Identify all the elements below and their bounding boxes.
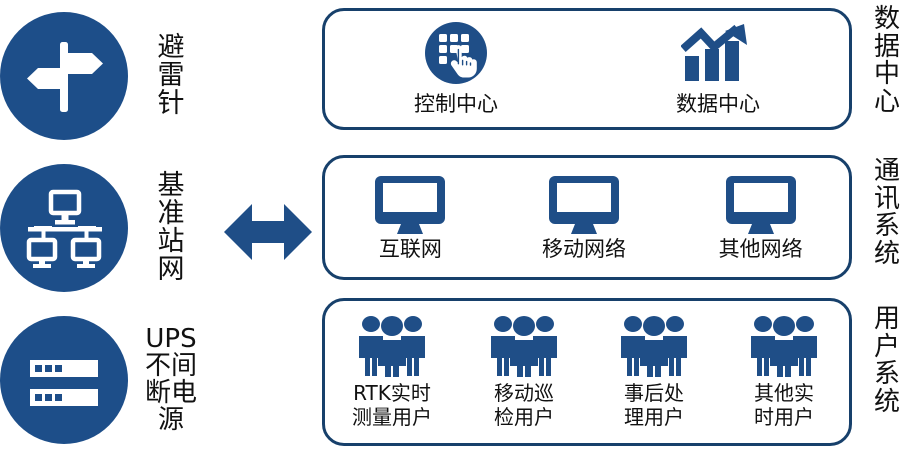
- label-line: 统: [862, 241, 912, 269]
- signpost-icon: [0, 12, 128, 140]
- network-of-computers-icon: [0, 164, 128, 292]
- label-line: 数: [862, 6, 912, 34]
- cell-caption: 控制中心: [414, 93, 498, 117]
- cell-other-network: 其他网络: [719, 173, 803, 262]
- cell-caption: 其他实 时用户: [754, 381, 814, 429]
- cell-caption: RTK实时 测量用户: [352, 381, 432, 429]
- cell-control-center: 控制中心: [414, 21, 498, 117]
- label-line: 网: [140, 256, 202, 284]
- label-line: 站: [140, 228, 202, 256]
- label-line: UPS: [140, 326, 202, 353]
- user-group-icon: [354, 315, 430, 377]
- label-line: 不间: [140, 353, 202, 380]
- label-line: 系: [862, 361, 912, 389]
- user-group-icon: [486, 315, 562, 377]
- section-label-data-center: 数 据 中 心: [862, 6, 912, 116]
- monitor-icon: [545, 173, 623, 235]
- cell-caption: 互联网: [379, 238, 442, 262]
- infrastructure-item-ups: UPS 不间 断电 源: [0, 308, 215, 452]
- monitor-icon: [722, 173, 800, 235]
- data-center-box: 控制中心 数据中心: [322, 8, 852, 130]
- double-headed-arrow-icon: [222, 196, 314, 268]
- cell-caption: 数据中心: [676, 93, 760, 117]
- cell-post-processing-users: 事后处 理用户: [616, 315, 692, 429]
- label-line: 讯: [862, 186, 912, 214]
- user-system-box: RTK实时 测量用户 移动巡 检用户: [322, 298, 852, 446]
- label-line: 用: [862, 306, 912, 334]
- cell-rtk-realtime-survey-users: RTK实时 测量用户: [352, 315, 432, 429]
- label-line: 源: [140, 407, 202, 434]
- cell-caption: 其他网络: [719, 238, 803, 262]
- cell-caption: 移动网络: [542, 238, 626, 262]
- monitor-icon: [371, 173, 449, 235]
- label-line: 心: [862, 89, 912, 117]
- infrastructure-column: 避 雷 针: [0, 0, 215, 454]
- diagram-canvas: 避 雷 针: [0, 0, 917, 454]
- cell-other-realtime-users: 其他实 时用户: [746, 315, 822, 429]
- infrastructure-item-reference-station-network: 基 准 站 网: [0, 156, 215, 300]
- label-line: 中: [862, 61, 912, 89]
- label-line: 统: [862, 389, 912, 417]
- section-label-communication-system: 通 讯 系 统: [862, 158, 912, 268]
- infrastructure-label-lightning-rod: 避 雷 针: [140, 34, 202, 118]
- cell-caption: 移动巡 检用户: [494, 381, 554, 429]
- label-line: 通: [862, 158, 912, 186]
- infrastructure-label-ups: UPS 不间 断电 源: [140, 326, 202, 434]
- label-line: 针: [140, 90, 202, 118]
- cell-mobile-network: 移动网络: [542, 173, 626, 262]
- label-line: 雷: [140, 62, 202, 90]
- section-label-user-system: 用 户 系 统: [862, 306, 912, 416]
- infrastructure-label-reference-station-network: 基 准 站 网: [140, 172, 202, 284]
- label-line: 系: [862, 213, 912, 241]
- cell-mobile-inspection-users: 移动巡 检用户: [486, 315, 562, 429]
- cell-internet: 互联网: [371, 173, 449, 262]
- cell-caption: 事后处 理用户: [624, 381, 684, 429]
- label-line: 准: [140, 200, 202, 228]
- touch-keypad-icon: [424, 21, 488, 85]
- user-group-icon: [616, 315, 692, 377]
- communication-system-box: 互联网 移动网络: [322, 155, 852, 280]
- label-line: 断电: [140, 380, 202, 407]
- cell-data-center: 数据中心: [676, 21, 760, 117]
- label-line: 户: [862, 334, 912, 362]
- label-line: 据: [862, 34, 912, 62]
- label-line: 避: [140, 34, 202, 62]
- infrastructure-item-lightning-rod: 避 雷 针: [0, 4, 215, 148]
- ups-server-icon: [0, 316, 128, 444]
- user-group-icon: [746, 315, 822, 377]
- label-line: 基: [140, 172, 202, 200]
- growth-chart-icon: [681, 21, 755, 85]
